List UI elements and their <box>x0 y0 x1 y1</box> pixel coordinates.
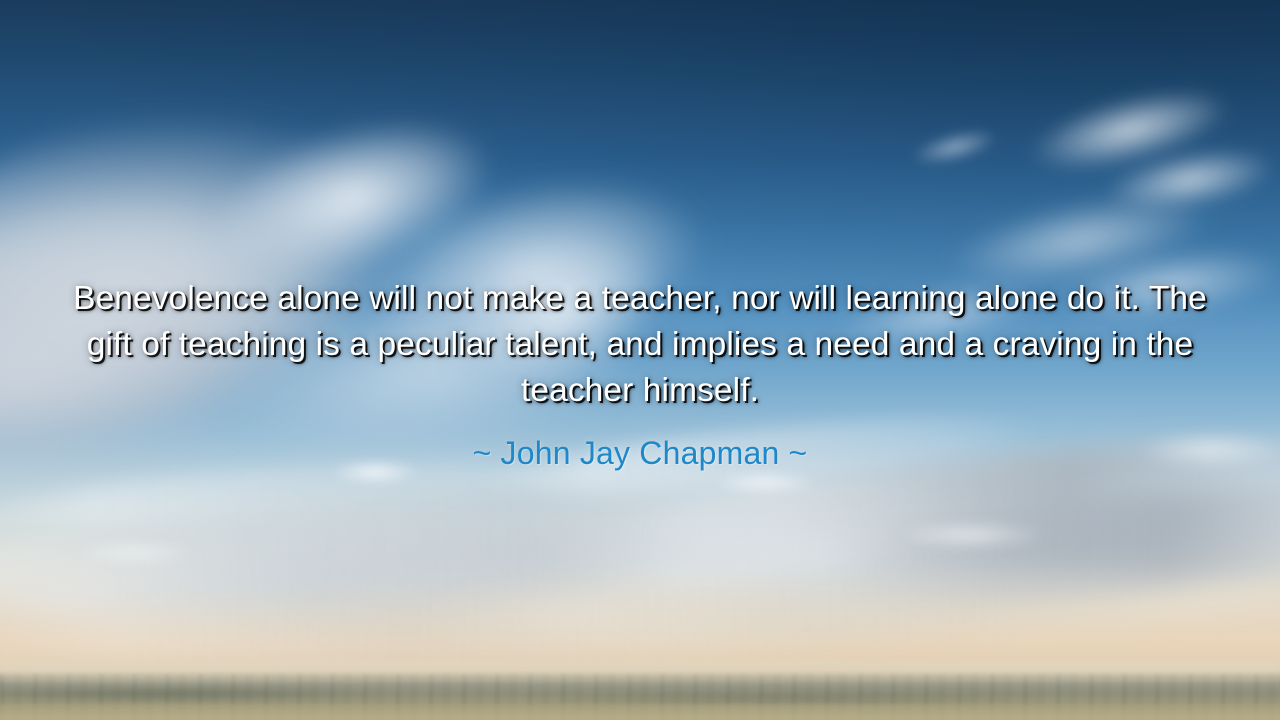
quote-image: Benevolence alone will not make a teache… <box>0 0 1280 720</box>
quote-overlay: Benevolence alone will not make a teache… <box>0 276 1280 473</box>
ground-foreground-field <box>0 704 1280 720</box>
horizon-haze <box>0 662 1280 690</box>
quote-text: Benevolence alone will not make a teache… <box>52 276 1228 414</box>
quote-author: ~ John Jay Chapman ~ <box>52 433 1228 473</box>
